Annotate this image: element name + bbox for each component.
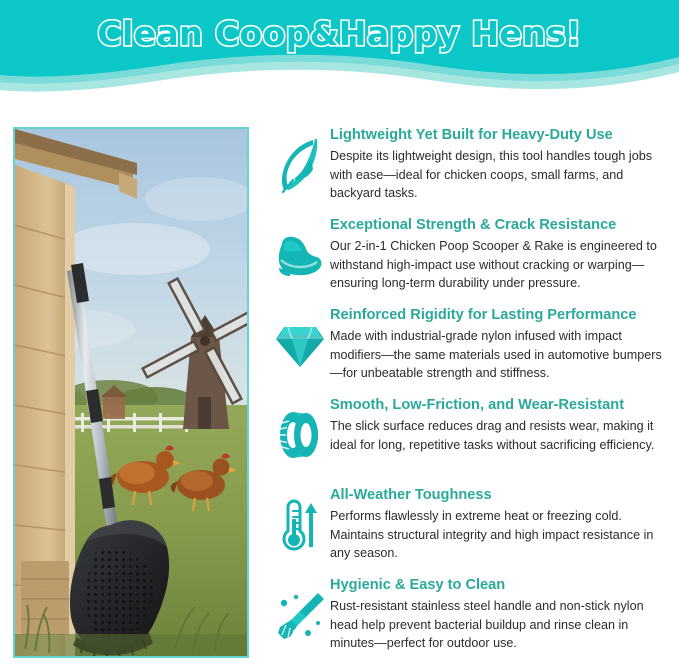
feature-text: Lightweight Yet Built for Heavy-Duty Use… — [328, 126, 672, 203]
feature-title: Hygienic & Easy to Clean — [330, 576, 672, 594]
product-photo-scene — [15, 129, 247, 656]
product-photo — [13, 127, 249, 658]
feature-description: Rust-resistant stainless steel handle an… — [330, 597, 672, 653]
feature-item: Hygienic & Easy to Clean Rust-resistant … — [272, 576, 672, 654]
feature-title: All-Weather Toughness — [330, 486, 672, 504]
feature-description: Our 2-in-1 Chicken Poop Scooper & Rake i… — [330, 237, 672, 293]
feature-description: Made with industrial-grade nylon infused… — [330, 327, 672, 383]
feature-text: All-Weather Toughness Performs flawlessl… — [328, 486, 672, 563]
thermometer-icon — [272, 486, 328, 560]
feature-text: Hygienic & Easy to Clean Rust-resistant … — [328, 576, 672, 653]
feature-title: Exceptional Strength & Crack Resistance — [330, 216, 672, 234]
feature-description: Despite its lightweight design, this too… — [330, 147, 672, 203]
feature-text: Smooth, Low-Friction, and Wear-Resistant… — [328, 396, 672, 454]
feature-description: The slick surface reduces drag and resis… — [330, 417, 672, 454]
broom-icon — [272, 576, 328, 650]
tire-icon — [272, 396, 328, 470]
feature-list: Lightweight Yet Built for Heavy-Duty Use… — [272, 126, 672, 666]
flexed-bicep-icon — [272, 216, 328, 290]
feature-text: Exceptional Strength & Crack Resistance … — [328, 216, 672, 293]
page-title: Clean Coop&Happy Hens! — [0, 14, 679, 53]
feature-title: Reinforced Rigidity for Lasting Performa… — [330, 306, 672, 324]
feature-item: Lightweight Yet Built for Heavy-Duty Use… — [272, 126, 672, 204]
feature-title: Lightweight Yet Built for Heavy-Duty Use — [330, 126, 672, 144]
feature-text: Reinforced Rigidity for Lasting Performa… — [328, 306, 672, 383]
feature-item: Exceptional Strength & Crack Resistance … — [272, 216, 672, 294]
feature-item: All-Weather Toughness Performs flawlessl… — [272, 486, 672, 564]
diamond-gem-icon — [272, 306, 328, 380]
header-banner: Clean Coop&Happy Hens! — [0, 0, 679, 104]
feature-item: Smooth, Low-Friction, and Wear-Resistant… — [272, 396, 672, 474]
feature-item: Reinforced Rigidity for Lasting Performa… — [272, 306, 672, 384]
feature-title: Smooth, Low-Friction, and Wear-Resistant — [330, 396, 672, 414]
feather-icon — [272, 126, 328, 200]
feature-description: Performs flawlessly in extreme heat or f… — [330, 507, 672, 563]
